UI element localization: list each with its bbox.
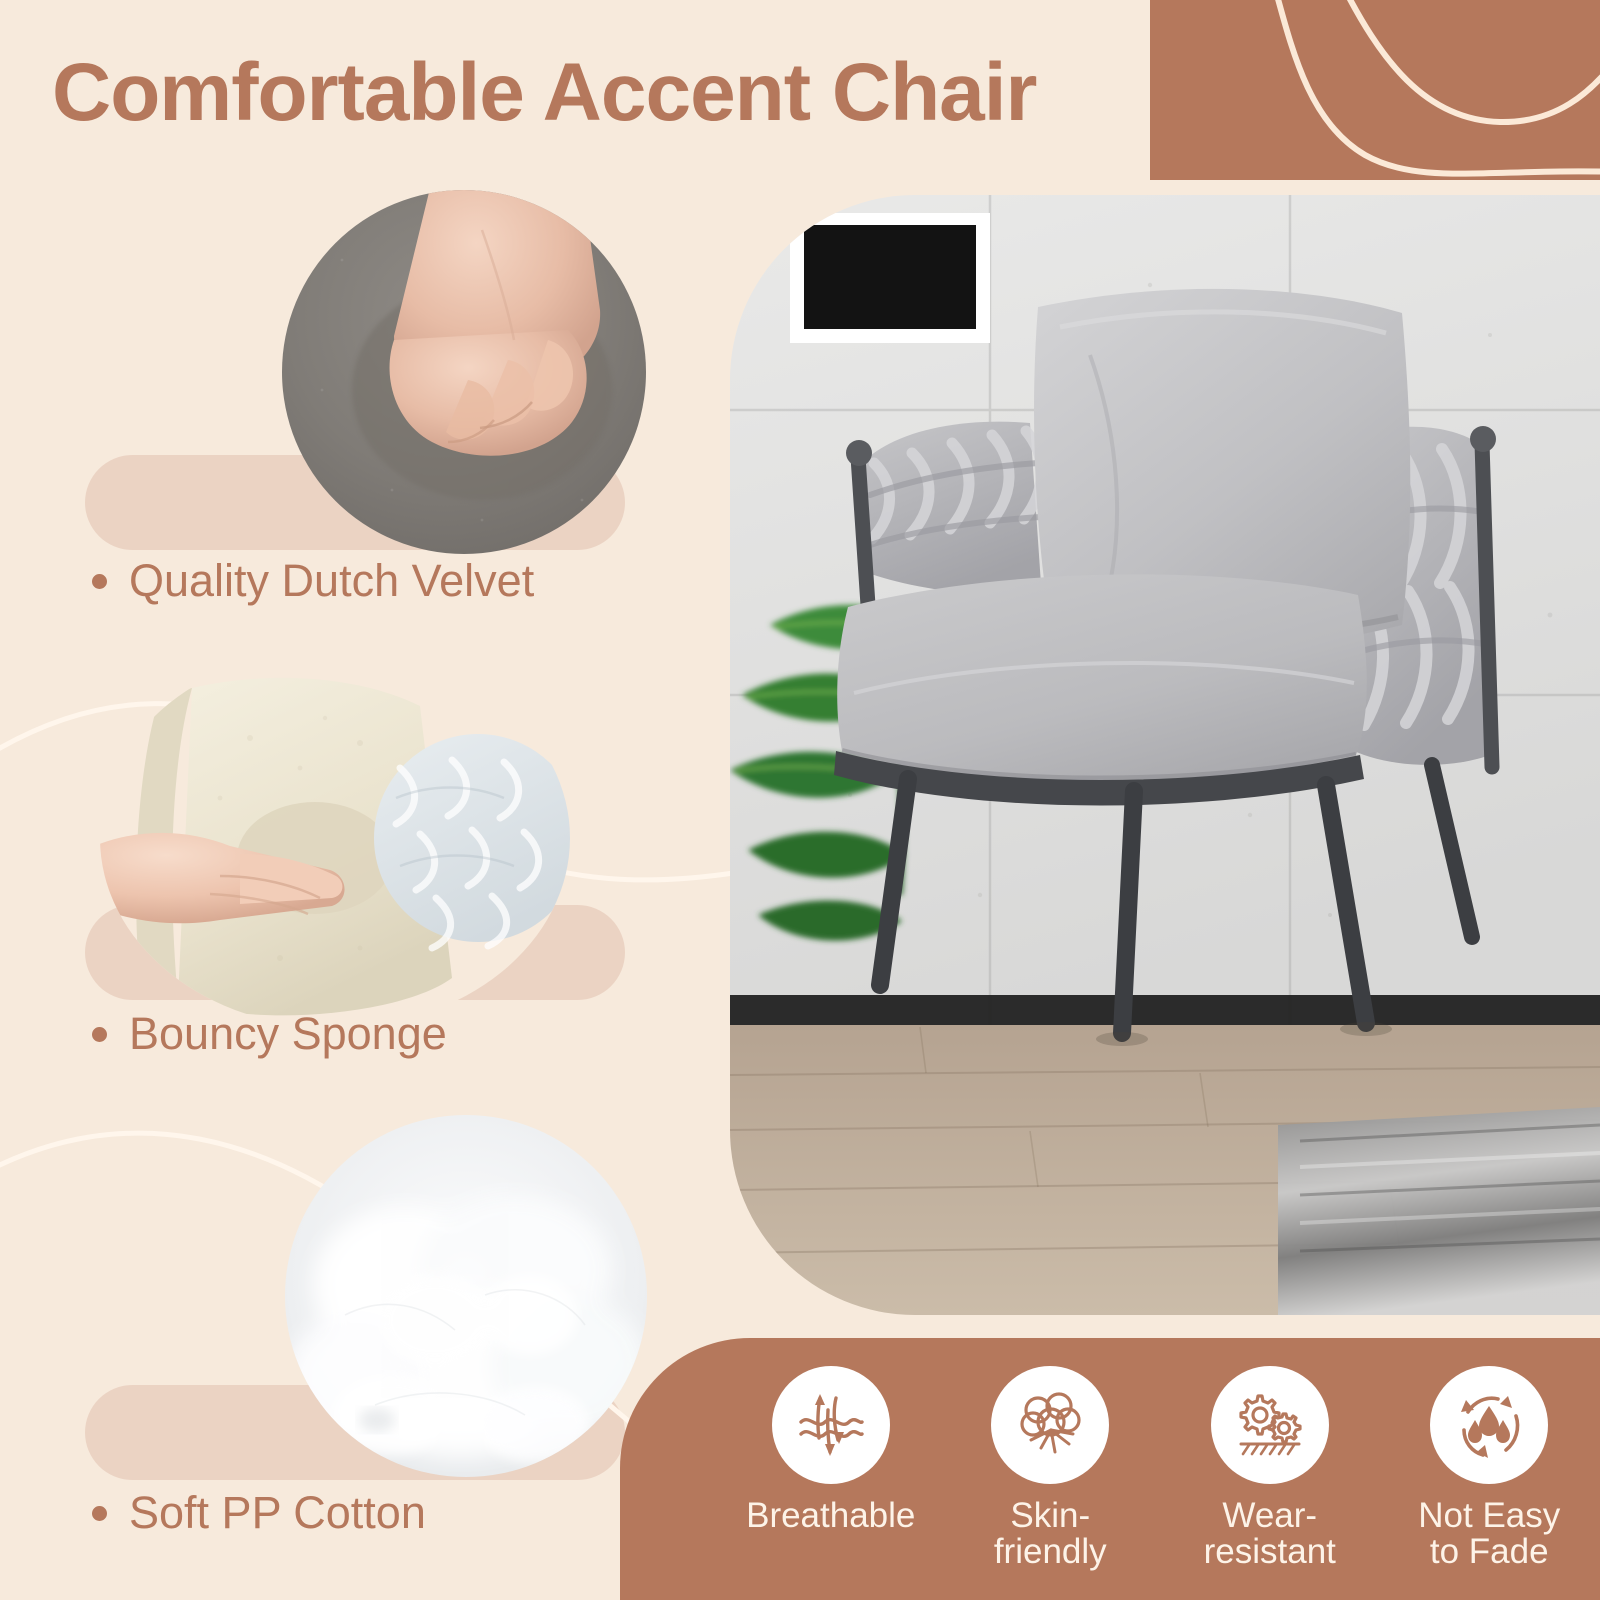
badge-label-breathable: Breathable [746, 1498, 915, 1534]
page-title-overlap: Comfortable Accent Chair [1150, 38, 1312, 148]
product-photo [730, 195, 1600, 1315]
badge-label-skin-friendly: Skin- friendly [994, 1498, 1107, 1569]
badge-circle [1211, 1366, 1329, 1484]
feature-label-velvet-row: Quality Dutch Velvet [78, 555, 534, 607]
feature-label-cotton: Soft PP Cotton [129, 1487, 426, 1539]
badge-not-easy-to-fade: Not Easy to Fade [1389, 1366, 1591, 1569]
feature-image-velvet [282, 190, 646, 554]
badge-breathable: Breathable [730, 1366, 932, 1534]
feature-image-sponge [100, 648, 570, 1028]
gears-abrasion-icon [1231, 1386, 1309, 1464]
bullet-dot-icon [92, 574, 107, 589]
breathable-airflow-icon [792, 1386, 870, 1464]
badge-circle [772, 1366, 890, 1484]
feature-badge-row: Breathable [620, 1338, 1600, 1600]
feature-label-cotton-row: Soft PP Cotton [78, 1487, 426, 1539]
badge-circle [1430, 1366, 1548, 1484]
page-title: Comfortable Accent Chair [52, 38, 1312, 148]
badge-label-not-easy-to-fade: Not Easy to Fade [1418, 1498, 1560, 1569]
cotton-boll-icon [1011, 1386, 1089, 1464]
badge-circle [991, 1366, 1109, 1484]
feature-label-velvet: Quality Dutch Velvet [129, 555, 534, 607]
infographic-canvas: Comfortable Accent Chair Comfortable Acc… [0, 0, 1600, 1600]
page-title-overlap-clip: Comfortable Accent Chair [1150, 38, 1600, 148]
water-drop-recycle-icon [1450, 1386, 1528, 1464]
feature-label-sponge-row: Bouncy Sponge [78, 1008, 447, 1060]
badge-wear-resistant: Wear- resistant [1169, 1366, 1371, 1569]
feature-image-cotton [285, 1115, 647, 1477]
bullet-dot-icon [92, 1027, 107, 1042]
badge-label-wear-resistant: Wear- resistant [1204, 1498, 1336, 1569]
bullet-dot-icon [92, 1506, 107, 1521]
feature-label-sponge: Bouncy Sponge [129, 1008, 447, 1060]
feature-badge-strip: Breathable [620, 1338, 1600, 1600]
badge-skin-friendly: Skin- friendly [950, 1366, 1152, 1569]
